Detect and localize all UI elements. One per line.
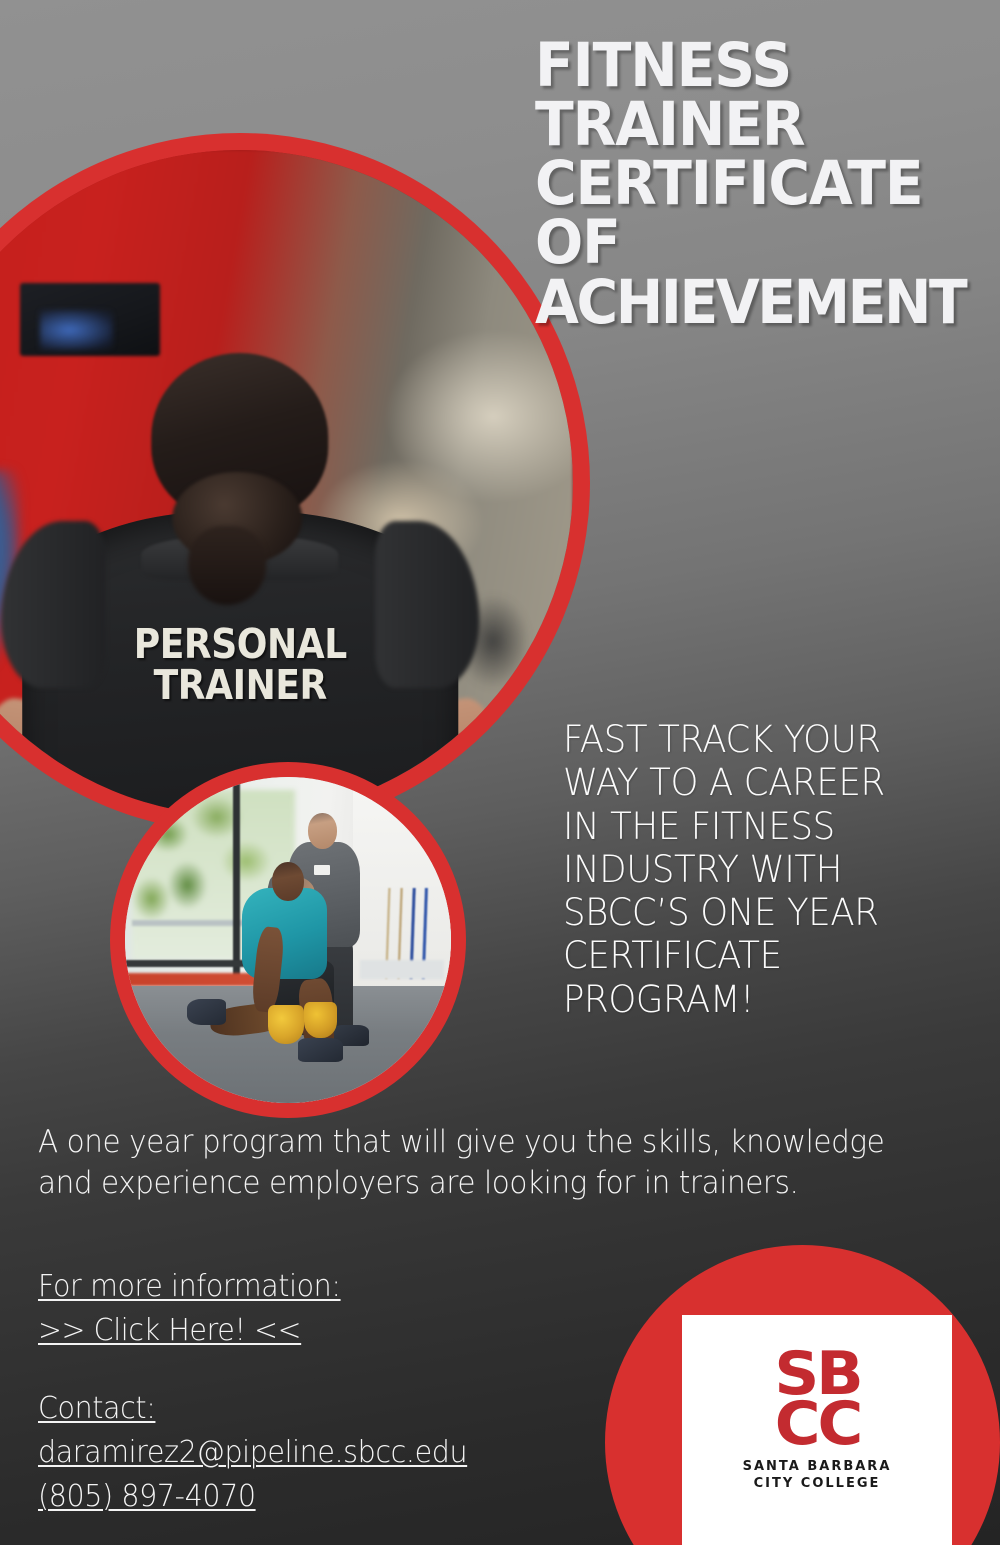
- subhead-line-1: FAST TRACK YOUR: [563, 718, 966, 761]
- logo-mark-bottom: CC: [774, 1399, 860, 1449]
- coach-head: [308, 813, 337, 849]
- contact-phone-link[interactable]: (805) 897-4070: [38, 1475, 467, 1519]
- body-line-1: A one year program that will give you th…: [38, 1122, 922, 1163]
- headline-line-1: FITNESS: [535, 36, 963, 95]
- body-paragraph: A one year program that will give you th…: [38, 1122, 922, 1204]
- secondary-photo-circle: [110, 762, 466, 1118]
- click-here-link[interactable]: >> Click Here! <<: [38, 1309, 467, 1353]
- trainer-left-shoulder: [1, 521, 105, 689]
- body-line-2: and experience employers are looking for…: [38, 1163, 922, 1204]
- kettlebell-right: [304, 1002, 337, 1038]
- shirt-text: PERSONAL TRAINER: [133, 624, 346, 706]
- sbcc-logo-name: SANTA BARBARA CITY COLLEGE: [743, 1459, 892, 1493]
- trainer-right-shoulder: [375, 521, 479, 689]
- logo-name-line-2: CITY COLLEGE: [743, 1476, 892, 1493]
- subhead-line-4: INDUSTRY WITH: [563, 848, 966, 891]
- more-info-label: For more information:: [38, 1265, 467, 1309]
- tv-screen-glow: [40, 310, 113, 350]
- poster-canvas: PERSONAL TRAINER: [0, 0, 1000, 1545]
- client-back-shoe: [187, 999, 226, 1025]
- secondary-photo: [125, 777, 451, 1103]
- headline-line-3: CERTIFICATE: [535, 154, 963, 213]
- contact-email-link[interactable]: daramirez2@pipeline.sbcc.edu: [38, 1431, 467, 1475]
- sbcc-logo-mark: SB CC: [774, 1349, 860, 1450]
- logo-name-line-1: SANTA BARBARA: [743, 1459, 892, 1476]
- hero-photo: PERSONAL TRAINER: [0, 150, 573, 816]
- sbcc-logo: SB CC SANTA BARBARA CITY COLLEGE: [682, 1315, 952, 1545]
- subhead-line-6: CERTIFICATE: [563, 934, 966, 977]
- subhead-line-3: IN THE FITNESS: [563, 805, 966, 848]
- subhead-line-2: WAY TO A CAREER: [563, 761, 966, 804]
- subhead-line-7: PROGRAM!: [563, 978, 966, 1021]
- coach-name-badge: [314, 865, 330, 875]
- kettlebell-left: [268, 1005, 304, 1044]
- subhead-line-5: SBCC’S ONE YEAR: [563, 891, 966, 934]
- hero-photo-circle: PERSONAL TRAINER: [0, 133, 590, 833]
- window-mullion-vertical: [233, 777, 240, 979]
- contact-spacer: [38, 1353, 467, 1387]
- equipment-bench: [360, 960, 445, 980]
- headline-line-4: OF: [535, 213, 963, 272]
- headline-line-2: TRAINER: [535, 95, 963, 154]
- trainer-ponytail: [188, 526, 266, 605]
- subheadline: FAST TRACK YOUR WAY TO A CAREER IN THE F…: [563, 718, 966, 1021]
- shirt-text-line-1: PERSONAL: [133, 624, 346, 665]
- contact-block: For more information: >> Click Here! << …: [38, 1265, 467, 1519]
- headline-line-5: ACHIEVEMENT: [535, 273, 963, 332]
- client-front-shoe: [298, 1038, 344, 1062]
- client-head: [272, 862, 305, 901]
- page-title: FITNESS TRAINER CERTIFICATE OF ACHIEVEME…: [535, 36, 963, 332]
- shirt-text-line-2: TRAINER: [133, 665, 346, 706]
- trainer-figure: PERSONAL TRAINER: [0, 363, 500, 816]
- contact-label: Contact:: [38, 1387, 467, 1431]
